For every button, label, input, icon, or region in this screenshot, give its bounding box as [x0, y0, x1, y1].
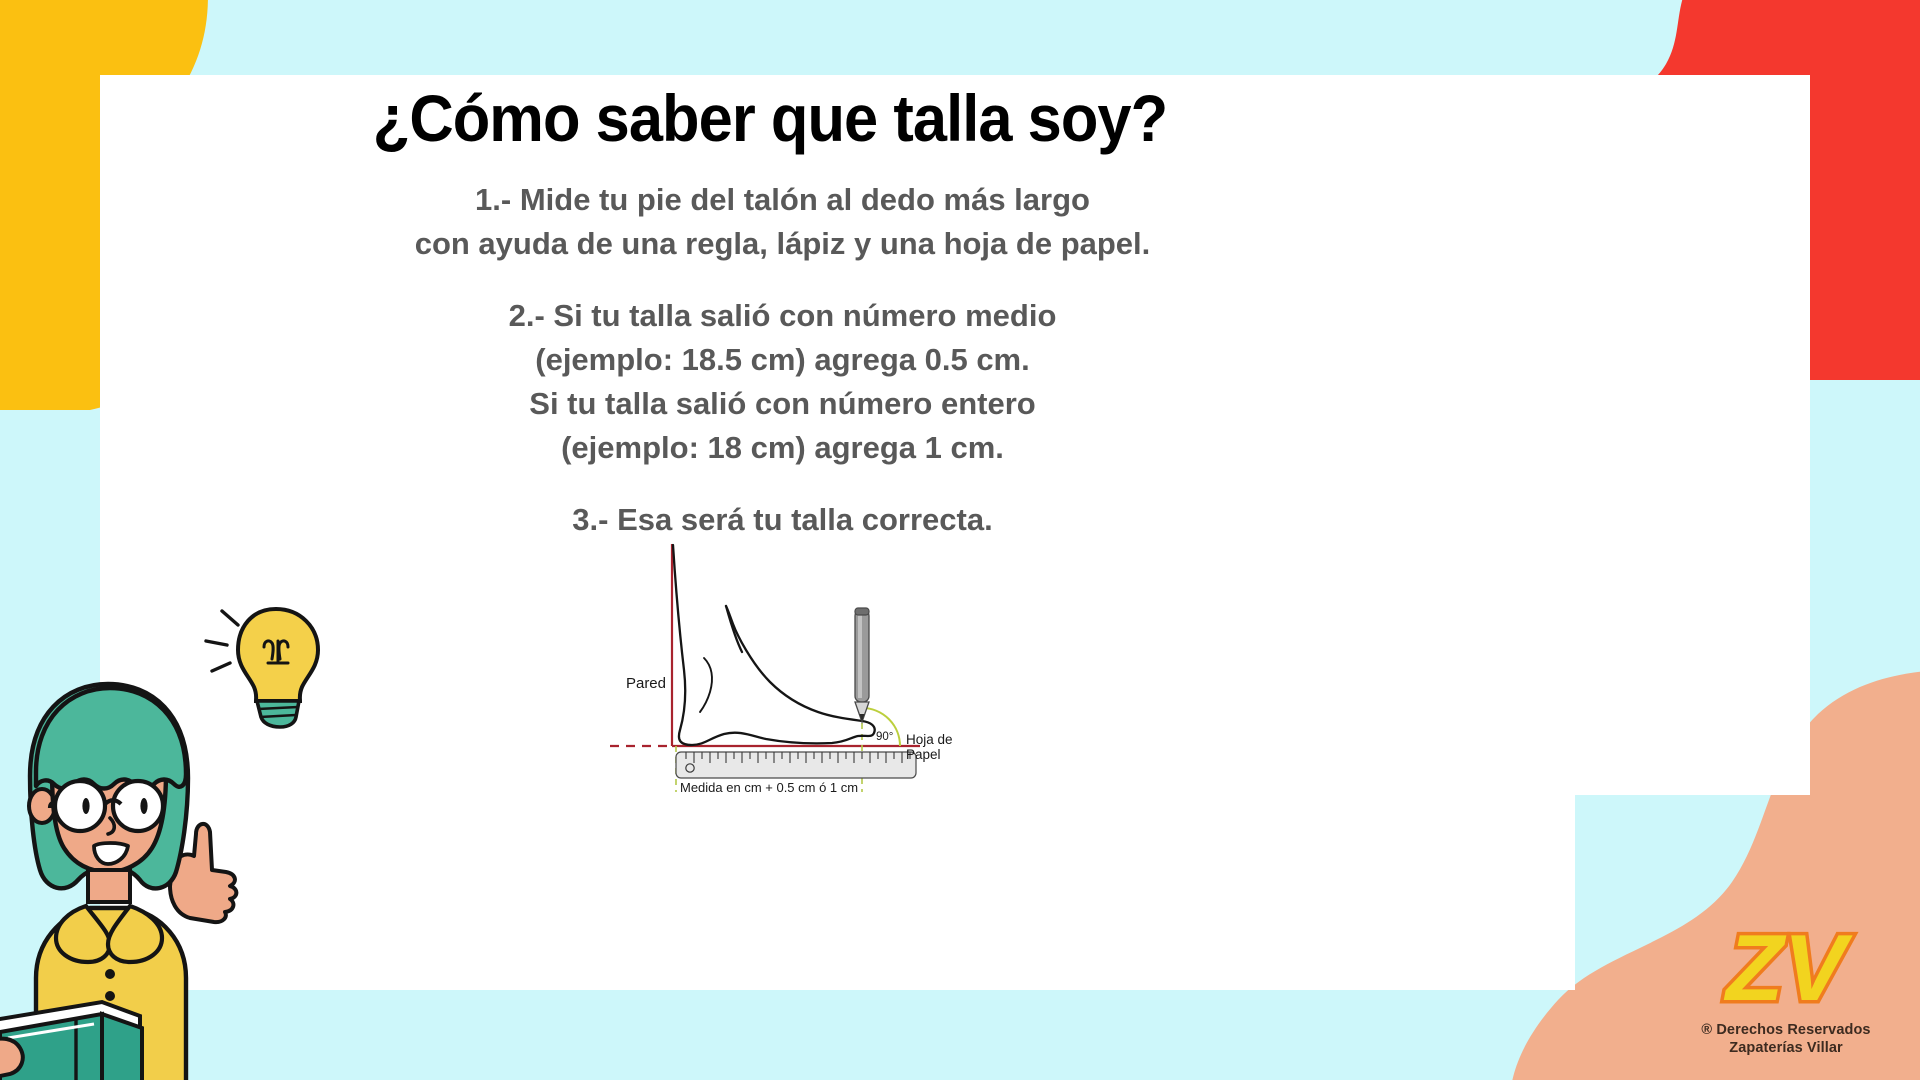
- paper-label-line1: Hoja de: [906, 732, 953, 747]
- instruction-line: (ejemplo: 18.5 cm) agrega 0.5 cm.: [0, 338, 1565, 382]
- eye-right: [140, 798, 147, 814]
- instruction-line: 3.- Esa será tu talla correcta.: [0, 498, 1565, 542]
- neck: [88, 870, 130, 902]
- wall-label: Pared: [626, 675, 666, 692]
- foot-arch-crease: [700, 658, 712, 712]
- instruction-line: (ejemplo: 18 cm) agrega 1 cm.: [0, 426, 1565, 470]
- paragraph-spacer: [0, 266, 1565, 294]
- logo-caption: ® Derechos Reservados Zapaterías Villar: [1670, 1021, 1902, 1057]
- ruler-caption: Medida en cm + 0.5 cm ó 1 cm: [680, 780, 858, 795]
- content-panel-lower: [100, 795, 1575, 990]
- instruction-line: Si tu talla salió con número entero: [0, 382, 1565, 426]
- foot-shin-line: [726, 606, 742, 652]
- eye-left: [82, 798, 89, 814]
- zv-logo-text: ZV: [1723, 916, 1853, 1016]
- paper-label-line2: Papel: [906, 747, 941, 762]
- girl-illustration: [0, 656, 260, 1080]
- page-title: ¿Cómo saber que talla soy?: [54, 80, 1486, 156]
- ruler-icon: [676, 752, 916, 778]
- slide-canvas: ¿Cómo saber que talla soy? 1.- Mide tu p…: [0, 0, 1920, 1080]
- pencil-icon: [855, 608, 869, 722]
- paragraph-spacer: [0, 470, 1565, 498]
- instruction-line: 2.- Si tu talla salió con número medio: [0, 294, 1565, 338]
- instructions-block: 1.- Mide tu pie del talón al dedo más la…: [0, 178, 1565, 542]
- angle-label: 90°: [876, 731, 893, 743]
- brand-logo: ZV ® Derechos Reservados Zapaterías Vill…: [1670, 916, 1902, 1066]
- foot-measurement-diagram: Pared 90° Hoja de Papel Medida en cm + 0…: [600, 540, 1000, 800]
- instruction-line: con ayuda de una regla, lápiz y una hoja…: [0, 222, 1565, 266]
- shirt-button-top: [105, 969, 115, 979]
- zv-logo-mark: ZV: [1670, 916, 1902, 1016]
- logo-caption-line1: ® Derechos Reservados: [1670, 1021, 1902, 1039]
- foot-outline: [673, 545, 875, 745]
- instruction-line: 1.- Mide tu pie del talón al dedo más la…: [0, 178, 1565, 222]
- logo-caption-line2: Zapaterías Villar: [1670, 1039, 1902, 1057]
- shirt-button-bottom: [105, 991, 115, 1001]
